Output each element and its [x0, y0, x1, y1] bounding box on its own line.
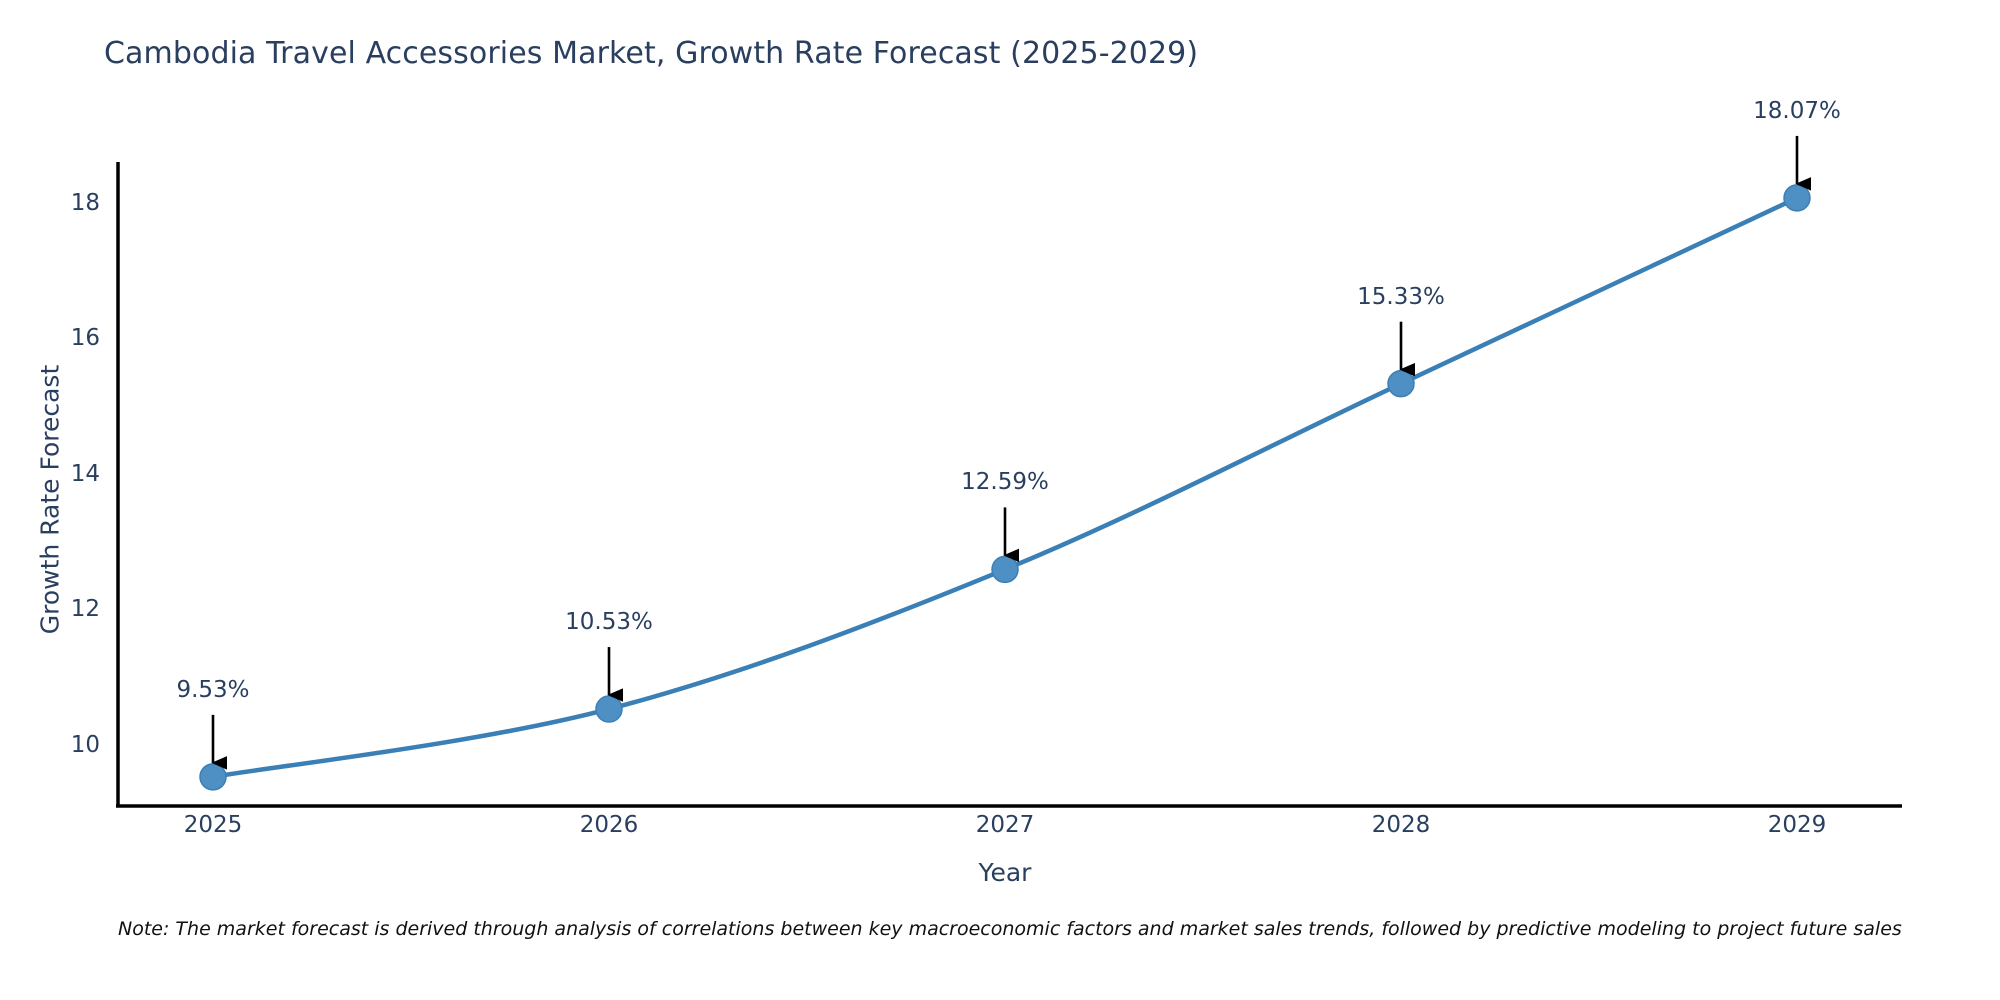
annotation-arrows [213, 136, 1797, 763]
data-point-marker[interactable] [992, 556, 1018, 582]
data-point-marker[interactable] [1388, 371, 1414, 397]
data-point-value-label: 15.33% [1357, 284, 1445, 310]
data-point-value-label: 12.59% [961, 469, 1049, 495]
data-point-marker[interactable] [596, 696, 622, 722]
data-point-marker[interactable] [1784, 185, 1810, 211]
x-axis-title: Year [979, 858, 1032, 887]
y-axis-tick-label: 16 [40, 325, 100, 351]
x-axis-tick-label: 2027 [976, 812, 1035, 838]
y-axis-tick-label: 10 [40, 732, 100, 758]
data-point-marker[interactable] [200, 764, 226, 790]
x-axis-tick-label: 2029 [1768, 812, 1827, 838]
x-axis-tick-label: 2028 [1372, 812, 1431, 838]
y-axis-tick-label: 18 [40, 190, 100, 216]
data-point-value-label: 18.07% [1753, 98, 1841, 124]
data-point-value-label: 10.53% [565, 609, 653, 635]
chart-footnote: Note: The market forecast is derived thr… [118, 918, 1902, 940]
chart-root: Cambodia Travel Accessories Market, Grow… [0, 0, 2000, 1000]
plot-canvas [0, 0, 2000, 1000]
data-point-value-label: 9.53% [176, 677, 249, 703]
x-axis-tick-label: 2026 [580, 812, 639, 838]
y-axis-title: Growth Rate Forecast [36, 350, 65, 650]
x-axis-tick-label: 2025 [184, 812, 243, 838]
